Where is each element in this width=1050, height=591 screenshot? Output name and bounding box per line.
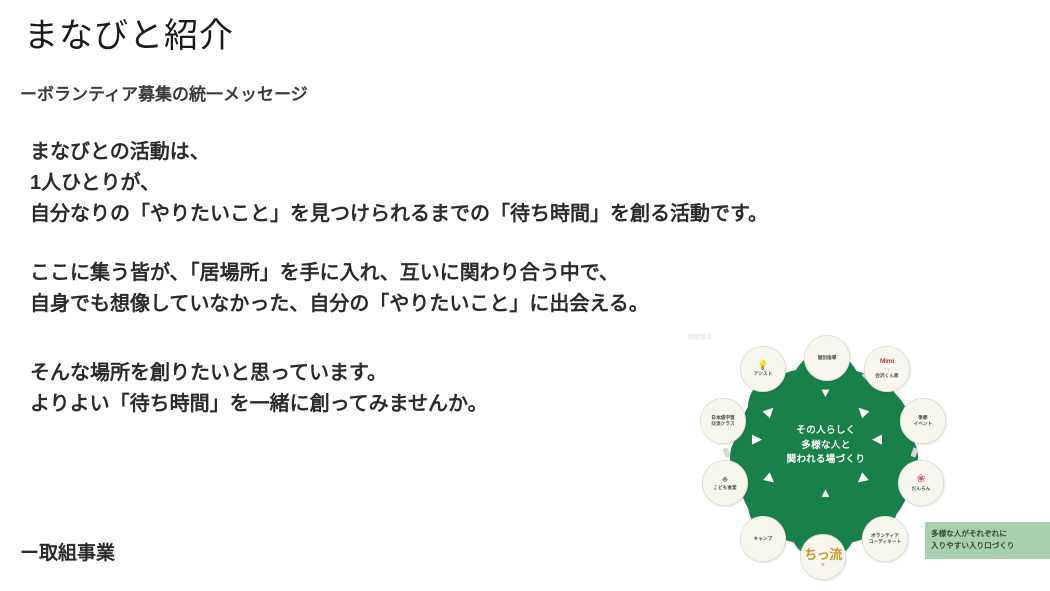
connector-stub-w	[723, 447, 731, 457]
node-kobetsu-shido[interactable]: 個別指導	[804, 335, 850, 381]
node-assist[interactable]: 💡 アシスト	[740, 346, 786, 392]
slide-canvas: まなびと紹介 ーボランティア募集の統一メッセージ まなびとの活動は、 1人ひとり…	[0, 0, 1050, 591]
node-camp[interactable]: キャンプ	[740, 516, 786, 562]
mimi-logo-icon: Mimi	[880, 359, 894, 366]
activities-diagram: 取組事業 その人らしく 多様な人と 関われる場づくり ▼ ◀ ◀ ◀ ▲ ▶ ▶…	[686, 332, 1050, 591]
slide-subtitle: ーボランティア募集の統一メッセージ	[20, 80, 308, 105]
node-label: アシスト	[754, 371, 773, 377]
diagram-caption: 多様な人がそれぞれに 入りやすい入り口づくり	[925, 522, 1050, 559]
diagram-stage: その人らしく 多様な人と 関われる場づくり ▼ ◀ ◀ ◀ ▲ ▶ ▶ ▶ 個別…	[686, 332, 966, 582]
chiryu-logo-icon: ちっ流	[804, 548, 842, 561]
arrow-up-bottom: ▲	[819, 486, 832, 499]
node-nihongo-class[interactable]: 日本語学習 交流クラス	[700, 398, 746, 444]
node-label: 会沢くん家	[875, 373, 898, 379]
node-mimi-logo[interactable]: Mimi ミミ 会沢くん家	[864, 346, 910, 392]
node-label: 季節 イベント	[914, 415, 933, 427]
danran-flower-icon: ❀	[916, 474, 925, 485]
node-label: 日本語学習 交流クラス	[711, 415, 734, 427]
center-message: その人らしく 多様な人と 関われる場づくり	[742, 424, 910, 468]
body-paragraph-2: ここに集う皆が、「居場所」を手に入れ、互いに関わり合う中で、 自身でも想像してい…	[30, 258, 649, 320]
node-label: 個別指導	[818, 355, 837, 361]
node-label: こども食堂	[713, 485, 736, 491]
page-title: まなびと紹介	[24, 8, 234, 57]
body-paragraph-1: まなびとの活動は、 1人ひとりが、 自分なりの「やりたいこと」を見つけられるまで…	[30, 137, 768, 230]
footer-note: ー取組事業	[20, 538, 115, 565]
node-chiryu-logo[interactable]: ちっ流 季	[800, 534, 846, 580]
node-label: ボランティア コーディネート	[869, 533, 902, 545]
node-volunteer-coordinate[interactable]: ボランティア コーディネート	[862, 516, 908, 562]
mimi-logo-sub: ミミ	[884, 368, 890, 371]
node-label: だんらん	[912, 486, 931, 492]
node-label: キャンプ	[754, 536, 773, 542]
arrow-right-left: ▶	[752, 432, 762, 445]
body-paragraph-3: そんな場所を創りたいと思っています。 よりよい「待ち時間」を一緒に創ってみません…	[30, 358, 488, 420]
arrow-down-top: ▼	[819, 386, 832, 399]
lightbulb-icon: 💡	[757, 361, 768, 370]
chiryu-logo-sub: 季	[821, 562, 824, 567]
clover-icon: ♣	[722, 475, 728, 484]
arrow-left-right: ◀	[872, 432, 882, 445]
